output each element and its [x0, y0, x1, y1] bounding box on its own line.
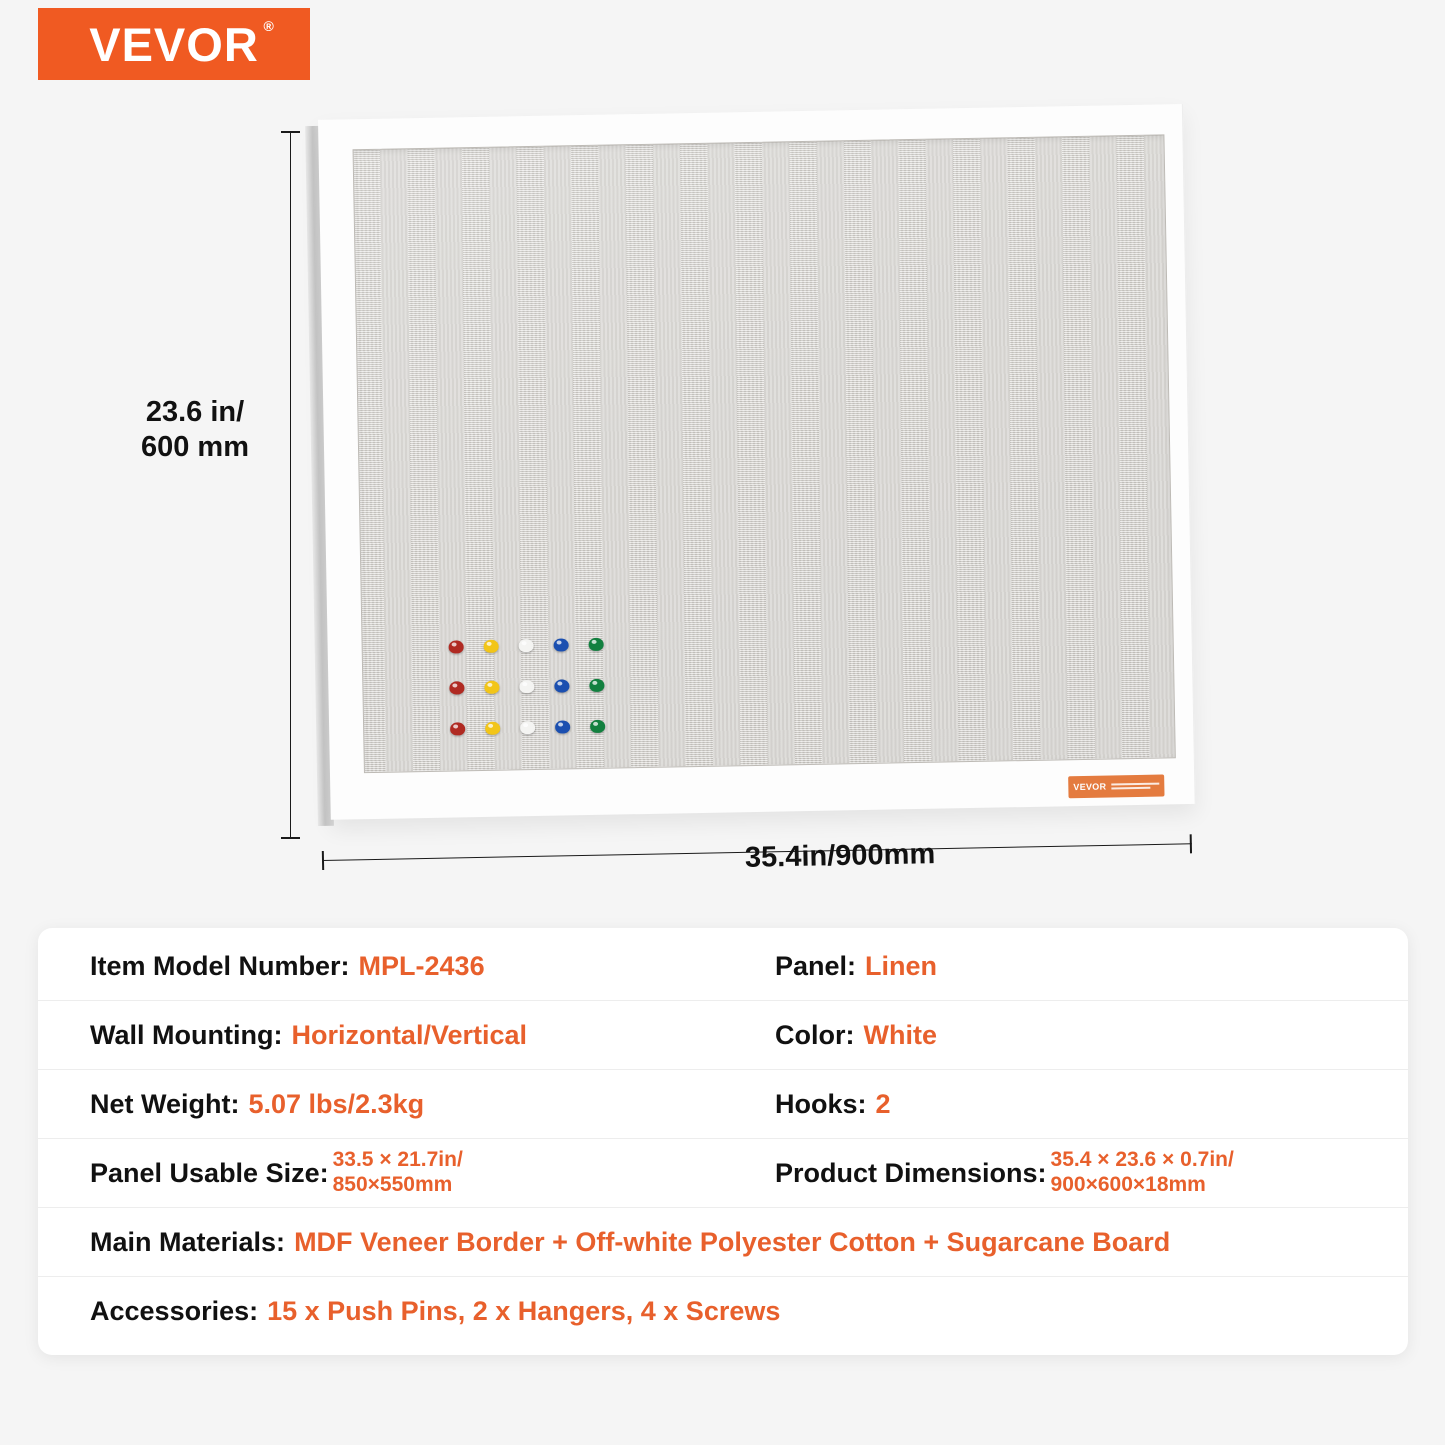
push-pin — [485, 722, 500, 735]
spec-value-line2: 850×550mm — [333, 1173, 463, 1198]
table-row: Panel Usable Size: 33.5 × 21.7in/ 850×55… — [38, 1139, 1408, 1208]
spec-accessories: Accessories: 15 x Push Pins, 2 x Hangers… — [38, 1277, 1408, 1345]
product-spec-page: VEVOR ® — [0, 0, 1445, 1445]
spec-wall-mounting: Wall Mounting: Horizontal/Vertical — [38, 1001, 723, 1069]
spec-net-weight: Net Weight: 5.07 lbs/2.3kg — [38, 1070, 723, 1138]
push-pin-grid — [449, 637, 626, 763]
height-value-inches: 23.6 in/ — [120, 395, 270, 430]
push-pin — [450, 722, 465, 735]
spec-value: 35.4 × 23.6 × 0.7in/ 900×600×18mm — [1051, 1148, 1234, 1198]
height-dimension-label: 23.6 in/ 600 mm — [120, 395, 270, 466]
spec-label: Net Weight: — [90, 1089, 240, 1120]
spec-label: Color: — [775, 1020, 854, 1051]
registered-trademark-icon: ® — [263, 19, 274, 33]
push-pin — [449, 681, 464, 694]
push-pin — [589, 638, 604, 651]
push-pin — [590, 720, 605, 733]
sticker-text-lines — [1111, 783, 1159, 790]
brand-name: VEVOR — [89, 18, 259, 71]
push-pin — [519, 639, 534, 652]
spec-product-dimensions: Product Dimensions: 35.4 × 23.6 × 0.7in/… — [723, 1139, 1408, 1207]
push-pin — [484, 681, 499, 694]
spec-main-materials: Main Materials: MDF Veneer Border + Off-… — [38, 1208, 1408, 1276]
spec-value: 15 x Push Pins, 2 x Hangers, 4 x Screws — [267, 1296, 780, 1327]
spec-value-line1: 33.5 × 21.7in/ — [333, 1148, 463, 1173]
push-pin — [554, 679, 569, 692]
spec-value: MPL-2436 — [359, 951, 485, 982]
spec-label: Panel Usable Size: — [90, 1158, 329, 1189]
spec-label: Item Model Number: — [90, 951, 350, 982]
spec-value-line1: 35.4 × 23.6 × 0.7in/ — [1051, 1148, 1234, 1173]
vevor-logo: VEVOR ® — [38, 8, 310, 80]
push-pin — [520, 721, 535, 734]
spec-hooks: Hooks: 2 — [723, 1070, 1408, 1138]
table-row: Wall Mounting: Horizontal/Vertical Color… — [38, 1001, 1408, 1070]
table-row: Main Materials: MDF Veneer Border + Off-… — [38, 1208, 1408, 1277]
linen-panel — [353, 134, 1176, 773]
spec-panel: Panel: Linen — [723, 932, 1408, 1000]
width-dimension-label: 35.4in/900mm — [745, 838, 936, 875]
table-row: Net Weight: 5.07 lbs/2.3kg Hooks: 2 — [38, 1070, 1408, 1139]
height-value-mm: 600 mm — [120, 430, 270, 465]
height-dimension-line — [290, 131, 291, 839]
sticker-label: VEVOR — [1073, 782, 1106, 793]
bulletin-board: VEVOR — [305, 104, 1196, 830]
push-pin — [555, 720, 570, 733]
spec-value: 5.07 lbs/2.3kg — [249, 1089, 425, 1120]
push-pin — [589, 679, 604, 692]
spec-value: 33.5 × 21.7in/ 850×550mm — [333, 1148, 463, 1198]
table-row: Accessories: 15 x Push Pins, 2 x Hangers… — [38, 1277, 1408, 1345]
board-frame: VEVOR — [318, 104, 1196, 820]
spec-label: Wall Mounting: — [90, 1020, 282, 1051]
brand-wordmark: VEVOR ® — [89, 21, 259, 68]
spec-value-line2: 900×600×18mm — [1051, 1173, 1234, 1198]
spec-label: Accessories: — [90, 1296, 258, 1327]
spec-value: MDF Veneer Border + Off-white Polyester … — [294, 1227, 1170, 1258]
table-row: Item Model Number: MPL-2436 Panel: Linen — [38, 932, 1408, 1001]
push-pin — [484, 640, 499, 653]
spec-value: Horizontal/Vertical — [291, 1020, 527, 1051]
spec-color: Color: White — [723, 1001, 1408, 1069]
push-pin — [449, 640, 464, 653]
product-photo: VEVOR 23.6 in/ 600 mm 35.4in/900mm — [0, 95, 1445, 905]
spec-label: Product Dimensions: — [775, 1158, 1047, 1189]
push-pin — [519, 680, 534, 693]
specification-table: Item Model Number: MPL-2436 Panel: Linen… — [38, 928, 1408, 1355]
spec-item-model-number: Item Model Number: MPL-2436 — [38, 932, 723, 1000]
spec-value: White — [863, 1020, 937, 1051]
spec-label: Main Materials: — [90, 1227, 285, 1258]
spec-label: Hooks: — [775, 1089, 867, 1120]
spec-label: Panel: — [775, 951, 856, 982]
spec-value: 2 — [876, 1089, 891, 1120]
spec-value: Linen — [865, 951, 937, 982]
push-pin — [554, 638, 569, 651]
spec-panel-usable-size: Panel Usable Size: 33.5 × 21.7in/ 850×55… — [38, 1139, 723, 1207]
board-brand-sticker: VEVOR — [1068, 774, 1164, 798]
